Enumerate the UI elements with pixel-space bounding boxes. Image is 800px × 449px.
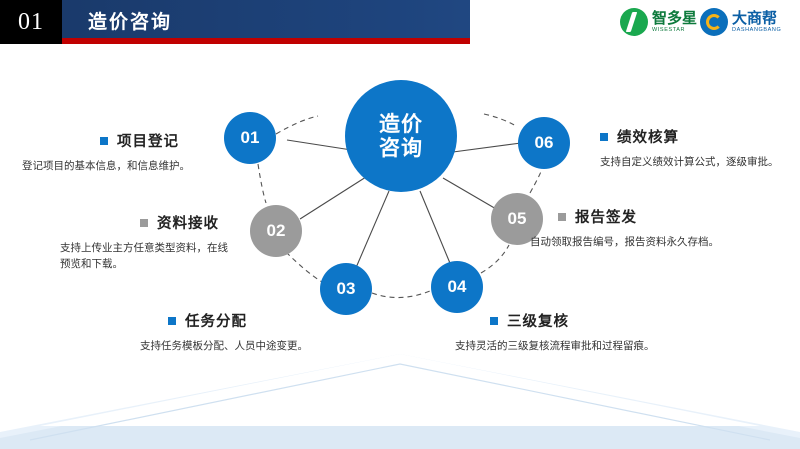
dashangbang-mark-icon [700,8,728,36]
bullet-square-icon [558,213,566,221]
label-01-title-row: 项目登记 [100,130,222,151]
label-02-title: 资料接收 [157,212,219,233]
header-section-number: 01 [0,0,62,44]
label-06-title-row: 绩效核算 [600,126,800,147]
slide-header: 01 造价咨询 智多星 WISESTAR 大商帮 DASHANGBANG [0,0,800,44]
diagram-label-05: 报告签发 自动领取报告编号，报告资料永久存档。 [530,206,780,250]
diagram-label-01: 项目登记 登记项目的基本信息，和信息维护。 [22,130,222,174]
label-02-desc: 支持上传业主方任意类型资料，在线 预览和下载。 [60,240,275,273]
diagram-node-01[interactable]: 01 [224,112,276,164]
label-04-desc: 支持灵活的三级复核流程审批和过程留痕。 [455,338,715,354]
diagram-node-03[interactable]: 03 [320,263,372,315]
diagram-node-04[interactable]: 04 [431,261,483,313]
label-03-title: 任务分配 [185,310,247,331]
dashangbang-logo-en: DASHANGBANG [732,28,781,34]
label-04-title: 三级复核 [507,310,569,331]
diagram-label-04: 三级复核 支持灵活的三级复核流程审批和过程留痕。 [455,310,715,354]
label-06-title: 绩效核算 [617,126,679,147]
diagram-label-06: 绩效核算 支持自定义绩效计算公式，逐级审批。 [600,126,800,170]
label-03-title-row: 任务分配 [168,310,370,331]
diagram-node-06[interactable]: 06 [518,117,570,169]
bullet-square-icon [168,317,176,325]
wisestar-mark-icon [620,8,648,36]
diagram-center-node: 造价 咨询 [345,80,457,192]
diagram-label-03: 任务分配 支持任务模板分配、人员中途变更。 [140,310,370,354]
label-04-title-row: 三级复核 [490,310,715,331]
page-title: 造价咨询 [88,7,172,34]
slide-canvas: 01 造价咨询 智多星 WISESTAR 大商帮 DASHANGBANG 造价 … [0,0,800,449]
bullet-square-icon [140,219,148,227]
logo-dashangbang: 大商帮 DASHANGBANG [700,5,781,39]
wisestar-logo-text: 智多星 WISESTAR [652,11,697,34]
label-05-title-row: 报告签发 [558,206,780,227]
center-node-line1: 造价 [379,112,423,136]
label-01-title: 项目登记 [117,130,179,151]
wisestar-logo-cn: 智多星 [652,11,697,26]
bullet-square-icon [100,137,108,145]
label-03-desc: 支持任务模板分配、人员中途变更。 [140,338,370,354]
wisestar-logo-en: WISESTAR [652,28,697,34]
label-05-desc: 自动领取报告编号，报告资料永久存档。 [530,234,780,250]
bullet-square-icon [600,133,608,141]
center-node-line2: 咨询 [379,136,423,160]
label-06-desc: 支持自定义绩效计算公式，逐级审批。 [600,154,800,170]
label-02-title-row: 资料接收 [140,212,275,233]
label-05-title: 报告签发 [575,206,637,227]
logo-wisestar: 智多星 WISESTAR [620,5,697,39]
dashangbang-logo-text: 大商帮 DASHANGBANG [732,11,781,34]
diagram-label-02: 资料接收 支持上传业主方任意类型资料，在线 预览和下载。 [60,212,275,273]
dashangbang-logo-cn: 大商帮 [732,11,781,26]
label-01-desc: 登记项目的基本信息，和信息维护。 [22,158,222,174]
bullet-square-icon [490,317,498,325]
